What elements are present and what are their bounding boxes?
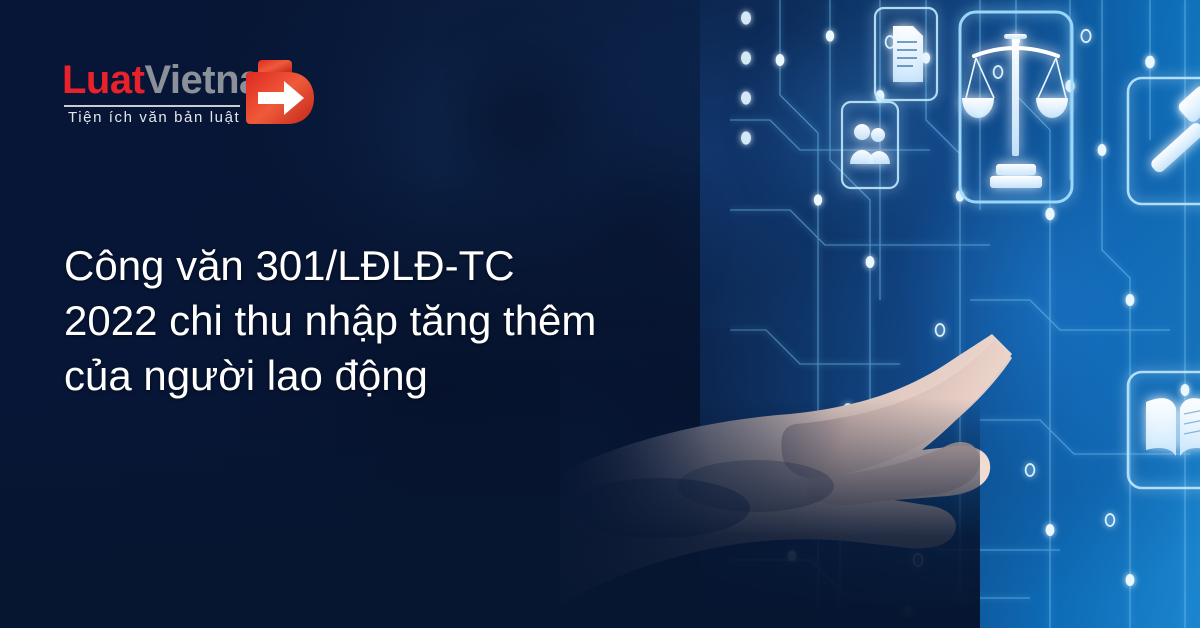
page-title: Công văn 301/LĐLĐ-TC 2022 chi thu nhập t…: [64, 238, 704, 403]
logo-divider: [64, 105, 240, 107]
people-group-icon: [842, 102, 898, 188]
scales-of-justice-icon: [960, 12, 1072, 202]
background-bottom-fade: [0, 398, 980, 628]
logo-word-luat: Luat: [62, 58, 144, 102]
share-banner: LuatVietnam Tiện ích văn bản luật Công v…: [0, 0, 1200, 628]
title-line-1: Công văn 301/LĐLĐ-TC: [64, 238, 704, 293]
chip-pin-dots: [741, 11, 751, 144]
title-line-2: 2022 chi thu nhập tăng thêm: [64, 293, 704, 348]
title-line-3: của người lao động: [64, 348, 704, 403]
gavel-icon: [1128, 78, 1200, 204]
red-folder-arrow-icon: [240, 52, 324, 130]
logo[interactable]: LuatVietnam Tiện ích văn bản luật: [62, 58, 312, 138]
logo-tagline: Tiện ích văn bản luật: [68, 109, 240, 126]
